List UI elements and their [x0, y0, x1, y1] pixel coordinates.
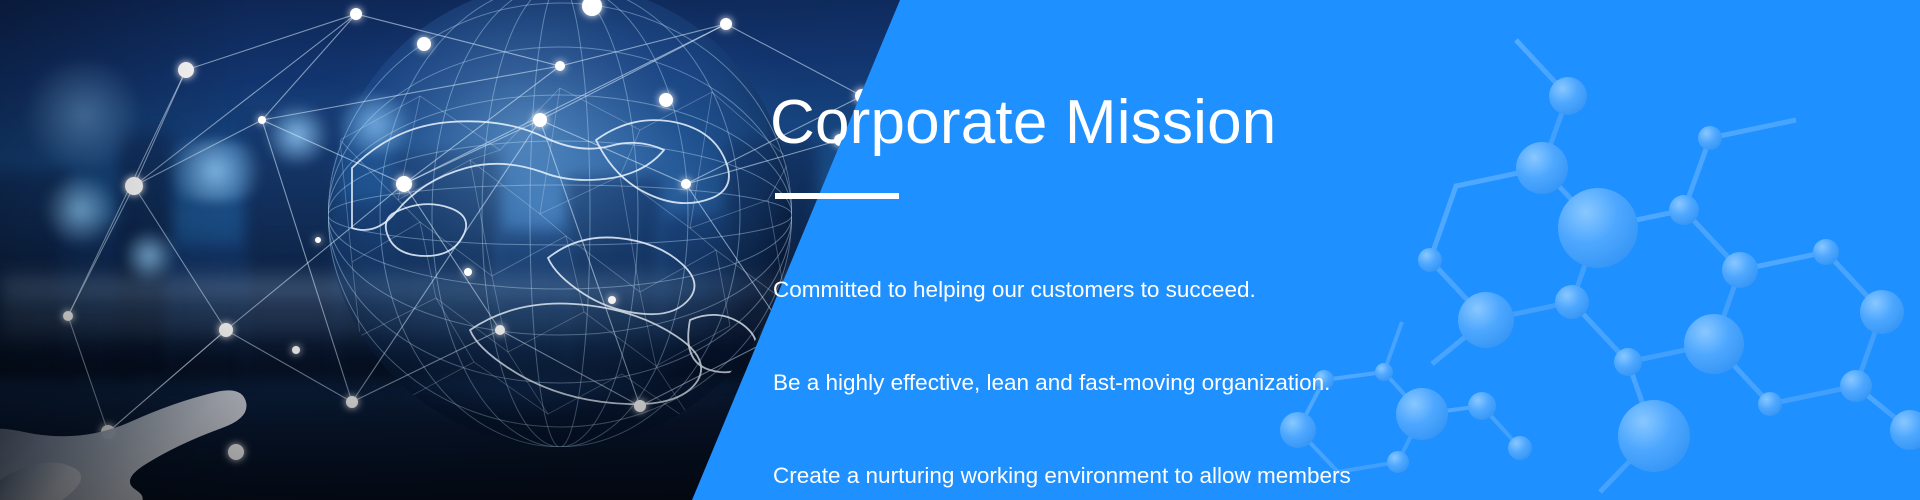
mission-line-3: Create a nurturing working environment t…	[773, 460, 1493, 491]
title-divider	[775, 193, 899, 199]
page-title: Corporate Mission	[770, 92, 1276, 154]
mission-text-block: Corporate Mission Committed to helping o…	[770, 0, 1530, 500]
corporate-mission-banner: Corporate Mission Committed to helping o…	[0, 0, 1920, 500]
mission-statement: Committed to helping our customers to su…	[773, 212, 1493, 500]
mission-line-1: Committed to helping our customers to su…	[773, 274, 1493, 305]
hand-silhouette	[0, 290, 380, 500]
mission-line-2: Be a highly effective, lean and fast-mov…	[773, 367, 1493, 398]
